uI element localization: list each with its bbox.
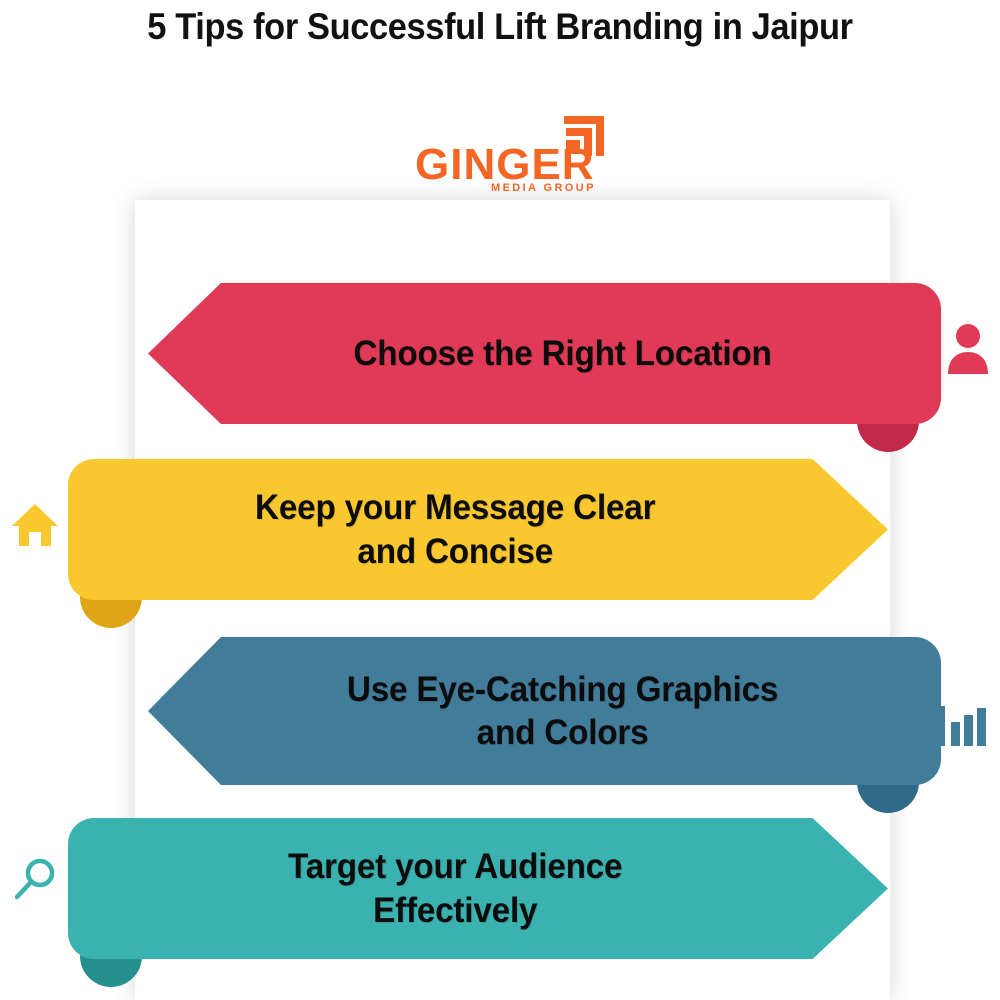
tip-label-4-line2: Effectively [373, 891, 537, 930]
nested-squares-logo-mark-icon [560, 114, 606, 160]
tip-label-4: Target your Audience Effectively [89, 845, 868, 932]
tip-label-3-line2: and Colors [477, 713, 649, 752]
tip-label-2-line1: Keep your Message Clear [255, 488, 655, 527]
search-icon [12, 856, 58, 902]
tip-label-3: Use Eye-Catching Graphics and Colors [168, 668, 921, 755]
tip-ribbon-4[interactable]: Target your Audience Effectively [68, 818, 888, 959]
page-title: 5 Tips for Successful Lift Branding in J… [35, 6, 965, 48]
tip-label-3-line1: Use Eye-Catching Graphics [347, 670, 778, 709]
tip-label-4-line1: Target your Audience [288, 847, 622, 886]
tip-label-1: Choose the Right Location [168, 332, 921, 375]
home-icon [10, 500, 60, 550]
user-icon [944, 320, 992, 376]
tip-ribbon-2[interactable]: Keep your Message Clear and Concise [68, 459, 888, 600]
tip-label-2: Keep your Message Clear and Concise [89, 486, 868, 573]
ginger-media-group-logo: GINGER MEDIA GROUP [415, 118, 615, 208]
tip-label-2-line2: and Concise [357, 532, 553, 571]
infographic-poster: 5 Tips for Successful Lift Branding in J… [0, 0, 1000, 1000]
tip-ribbon-3[interactable]: Use Eye-Catching Graphics and Colors [148, 637, 941, 785]
logo-tagline: MEDIA GROUP [491, 182, 596, 194]
bar-chart-icon [940, 706, 986, 746]
tip-ribbon-1[interactable]: Choose the Right Location [148, 283, 941, 424]
